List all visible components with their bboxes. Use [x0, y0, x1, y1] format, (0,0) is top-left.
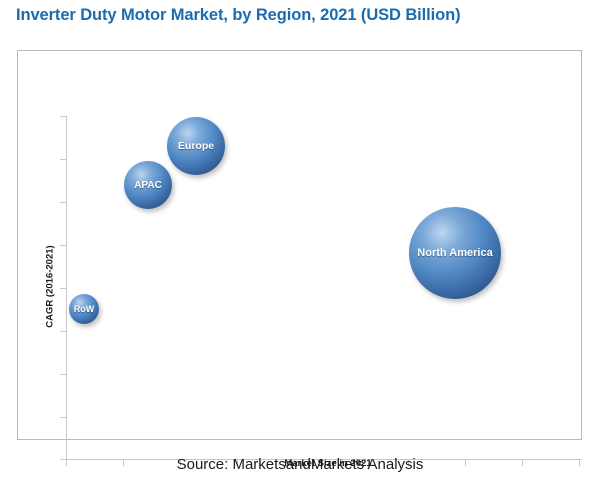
bubble-label: RoW	[74, 304, 95, 314]
y-axis-tick-6	[60, 374, 66, 375]
bubble-label: North America	[417, 247, 492, 259]
bubble-europe[interactable]: Europe	[167, 117, 225, 175]
bubble-apac[interactable]: APAC	[124, 161, 172, 209]
y-axis-tick-1	[60, 159, 66, 160]
chart-title: Inverter Duty Motor Market, by Region, 2…	[16, 6, 460, 25]
y-axis-tick-3	[60, 245, 66, 246]
y-axis-tick-4	[60, 288, 66, 289]
y-axis-line	[66, 116, 67, 460]
source-note: Source: MarketsandMarkets Analysis	[0, 456, 600, 473]
bubble-label: APAC	[134, 180, 162, 191]
y-axis-tick-5	[60, 331, 66, 332]
y-axis-tick-7	[60, 417, 66, 418]
plot-area: CAGR (2016-2021) Market Size in 2021 RoW…	[17, 50, 582, 440]
bubble-north-america[interactable]: North America	[409, 207, 501, 299]
y-axis-title: CAGR (2016-2021)	[45, 222, 56, 352]
bubble-row[interactable]: RoW	[69, 294, 99, 324]
y-axis-tick-0	[60, 116, 66, 117]
bubble-label: Europe	[178, 140, 214, 152]
y-axis-tick-2	[60, 202, 66, 203]
